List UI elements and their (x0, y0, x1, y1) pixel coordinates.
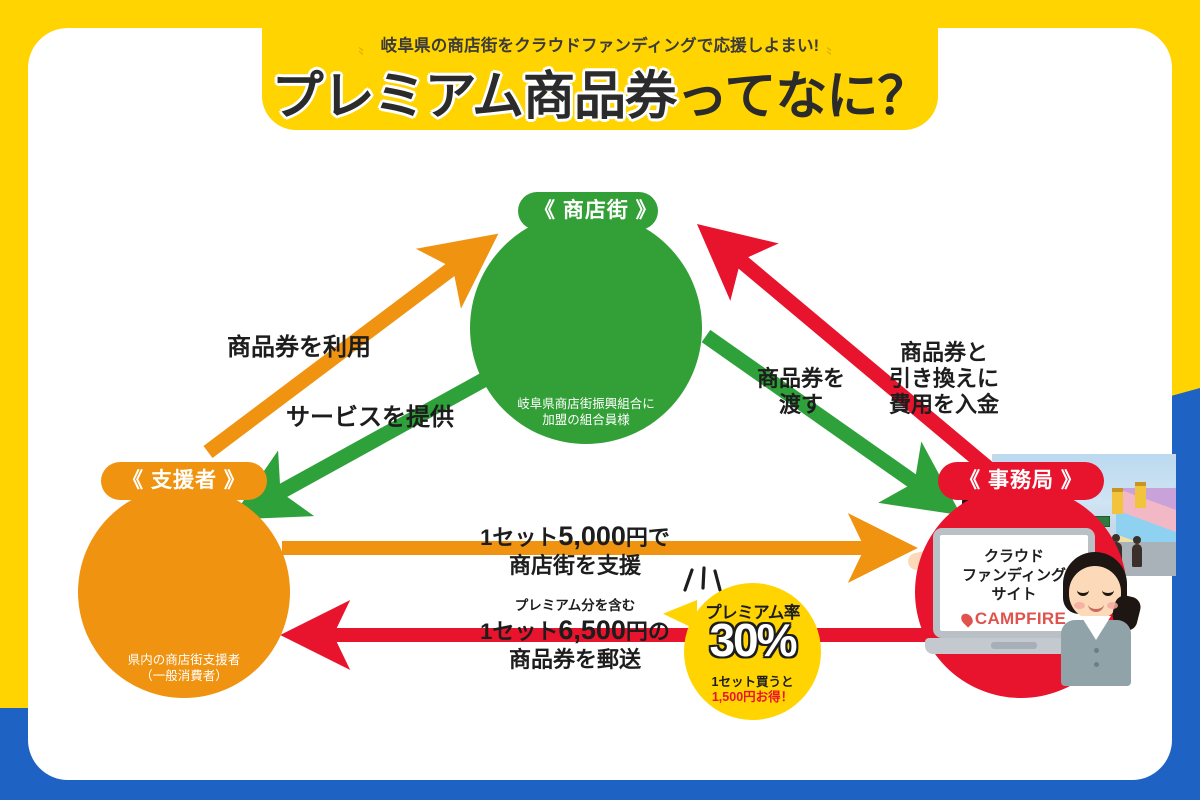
shop-caption-line1: 岐阜県商店街振興組合に (470, 396, 702, 412)
flow-label-pay-cost: 商品券と 引き換えに 費用を入金 (889, 340, 999, 418)
backer-caption-line1: 県内の商店街支援者 (78, 652, 290, 668)
lantern-icon (1112, 488, 1123, 514)
premium-rate-badge: プレミアム率 30% 1セット買うと 1,500円お得！ (684, 583, 821, 720)
clerk-illustration (1055, 552, 1143, 684)
buy-suffix: 円で (626, 525, 670, 550)
node-backer[interactable]: 県内の商店街支援者 （一般消費者） (78, 486, 290, 698)
lantern-icon (1135, 482, 1146, 508)
send-premium-note: プレミアム分を含む (460, 598, 690, 614)
send-suffix: 円の (626, 619, 670, 644)
send-amount: 6,500 (558, 615, 626, 645)
label-backer: 《 支援者 》 (101, 462, 267, 500)
send-line1: 1セット6,500円の (460, 615, 690, 647)
header-subtitle-text: 岐阜県の商店街をクラウドファンディングで応援しよまい! (381, 37, 820, 55)
clerk-button (1094, 648, 1099, 653)
buy-line2: 商店街を支援 (470, 553, 680, 579)
send-line2: 商品券を郵送 (460, 647, 690, 673)
flow-label-buy-set: 1セット5,000円で 商店街を支援 (470, 521, 680, 579)
shop-node-caption: 岐阜県商店街振興組合に 加盟の組合員様 (470, 396, 702, 429)
page-title: プレミアム商品券ってなに？ (262, 54, 938, 129)
flow-label-use-voucher: 商品券を利用 (227, 334, 371, 362)
pay-cost-line2: 引き換えに (889, 366, 999, 392)
buy-amount: 5,000 (558, 521, 626, 551)
clerk-blush (1074, 602, 1085, 609)
clerk-button (1094, 662, 1099, 667)
label-shopping-street: 《 商店街 》 (518, 192, 658, 230)
shop-caption-line2: 加盟の組合員様 (470, 412, 702, 428)
page-title-rest: ってなに？ (676, 68, 928, 126)
node-shopping-street[interactable]: 岐阜県商店街振興組合に 加盟の組合員様 (470, 212, 702, 444)
backer-caption-line2: （一般消費者） (78, 668, 290, 684)
label-office: 《 事務局 》 (938, 462, 1104, 500)
campfire-wordmark: CAMPFIRE (975, 609, 1066, 628)
badge-rate: 30% (684, 617, 821, 663)
flame-icon (959, 611, 975, 627)
buy-prefix: 1セット (480, 525, 558, 550)
infographic-page: 〟 岐阜県の商店街をクラウドファンディングで応援しよまい! 〟 プレミアム商品券… (0, 0, 1200, 800)
flow-label-hand-voucher: 商品券を 渡す (757, 366, 845, 418)
hand-voucher-line1: 商品券を (757, 366, 845, 392)
backer-node-caption: 県内の商店街支援者 （一般消費者） (78, 652, 290, 685)
flow-label-send-voucher: プレミアム分を含む 1セット6,500円の 商品券を郵送 (460, 598, 690, 673)
clerk-blush (1107, 602, 1118, 609)
page-title-emphasis: プレミアム商品券 (272, 68, 676, 126)
hand-voucher-line2: 渡す (757, 392, 845, 418)
pay-cost-line1: 商品券と (889, 340, 999, 366)
send-prefix: 1セット (480, 619, 558, 644)
buy-line1: 1セット5,000円で (470, 521, 680, 553)
pay-cost-line3: 費用を入金 (889, 392, 999, 418)
laptop-trackpad (991, 642, 1037, 649)
flow-label-provide-service: サービスを提供 (286, 404, 454, 432)
badge-note-line2: 1,500円お得！ (684, 686, 821, 705)
header-bubble: 〟 岐阜県の商店街をクラウドファンディングで応援しよまい! 〟 プレミアム商品券… (262, 0, 938, 130)
